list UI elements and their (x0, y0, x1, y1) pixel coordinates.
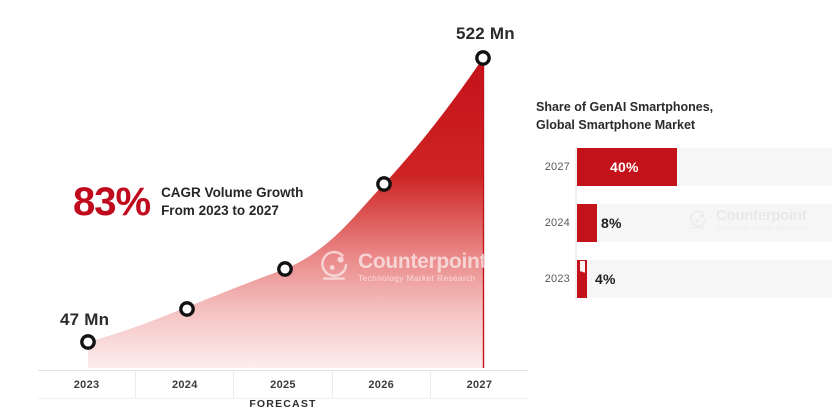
bar-row-label-2023: 2023 (530, 260, 570, 298)
x-tick-2027: 2027 (431, 371, 528, 398)
bar-row-label-2027: 2027 (530, 148, 570, 186)
bar-fill-2023 (577, 260, 587, 298)
x-tick-2023: 2023 (38, 371, 136, 398)
bar-row-2027: 2027 40% (530, 148, 832, 186)
bar-row-2023: 2023 4% (530, 260, 832, 298)
bar-fill-2024 (577, 204, 597, 242)
cagr-callout: 83% CAGR Volume GrowthFrom 2023 to 2027 (73, 182, 303, 222)
bar-track-2024: 8% (577, 204, 832, 242)
bar-row-label-2024: 2024 (530, 204, 570, 242)
cagr-line-1: CAGR Volume Growth (161, 185, 303, 200)
x-tick-2025: 2025 (234, 371, 332, 398)
x-axis: 2023 2024 2025 2026 2027 (38, 370, 528, 399)
bar-value-2024: 8% (601, 204, 622, 242)
bar-chart-title: Share of GenAI Smartphones, Global Smart… (536, 99, 826, 135)
bar-highlight-sliver (580, 261, 585, 286)
bar-row-2024: 2024 8% (530, 204, 832, 242)
x-axis-caption: FORECAST (38, 398, 528, 410)
bar-value-2027: 40% (610, 148, 639, 186)
bar-track-2023: 4% (577, 260, 832, 298)
area-chart-panel: Counterpoint Technology Market Research … (0, 0, 530, 410)
bar-value-2023: 4% (595, 260, 616, 298)
start-value-label: 47 Mn (60, 310, 109, 330)
x-tick-2024: 2024 (136, 371, 234, 398)
cagr-line-2: From 2023 to 2027 (161, 203, 279, 218)
bar-chart-plot: 2027 40% 2024 8% 2023 4% (530, 148, 832, 300)
x-tick-2026: 2026 (333, 371, 431, 398)
cagr-description: CAGR Volume GrowthFrom 2023 to 2027 (161, 184, 303, 220)
cagr-value: 83% (73, 182, 150, 222)
bar-chart-panel: Share of GenAI Smartphones, Global Smart… (530, 0, 832, 410)
end-value-label: 522 Mn (456, 24, 515, 44)
bar-track-2027: 40% (577, 148, 832, 186)
